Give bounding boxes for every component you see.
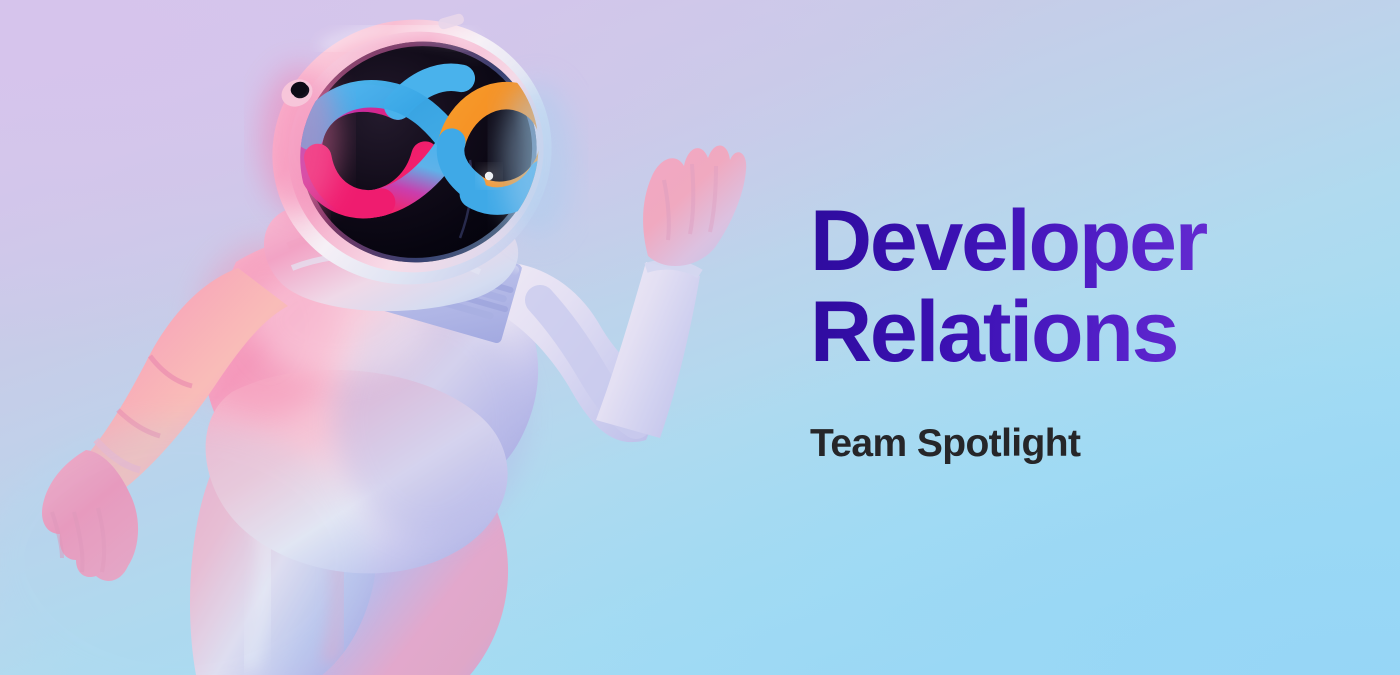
astronaut-svg xyxy=(0,0,800,675)
page-title: Developer Relations xyxy=(810,196,1350,378)
waving-hand xyxy=(643,145,746,266)
page-subtitle: Team Spotlight xyxy=(810,378,1350,466)
astronaut-illustration xyxy=(0,0,800,675)
text-block: Developer Relations Team Spotlight xyxy=(810,196,1350,466)
banner-root: Developer Relations Team Spotlight xyxy=(0,0,1400,675)
